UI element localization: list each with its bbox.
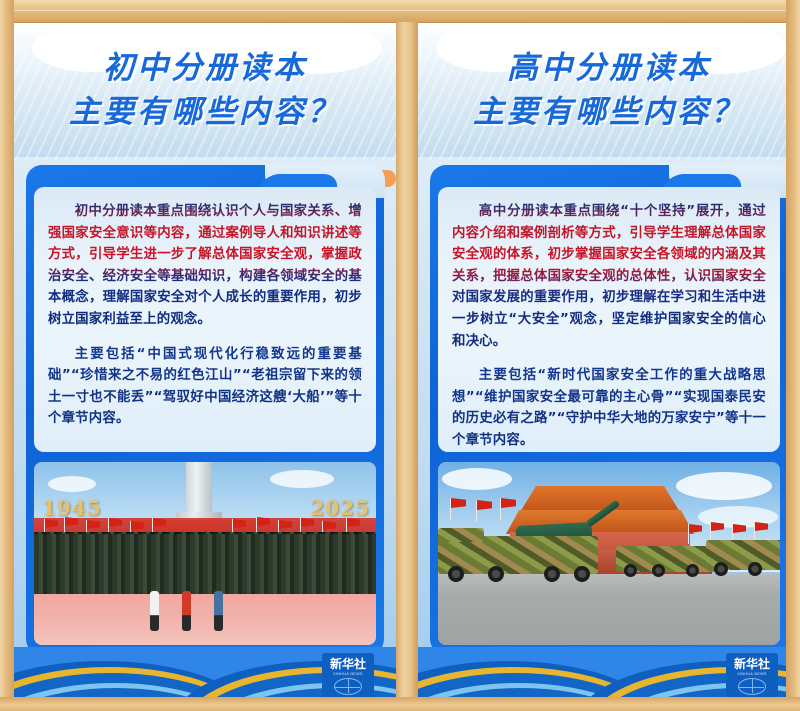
vehicle-wheel: [574, 566, 590, 582]
parade-leader: [150, 591, 159, 631]
title-line-1: 高中分册读本: [418, 46, 800, 90]
frame-left: [0, 0, 14, 711]
xinhua-logo: 新华社 XINHUA NEWS: [726, 653, 778, 699]
panel-title: 高中分册读本 主要有哪些内容？: [418, 46, 800, 134]
vehicle-wheel: [544, 566, 560, 582]
frame-right: [786, 0, 800, 711]
logo-cn-text: 新华社: [734, 658, 770, 671]
frame-divider: [396, 22, 418, 705]
title-line-2: 主要有哪些内容？: [14, 90, 396, 134]
paragraph-1: 初中分册读本重点围绕认识个人与国家关系、增强国家安全意识等内容，通过案例导人和知…: [48, 201, 362, 331]
globe-icon: [738, 678, 766, 695]
globe-icon: [334, 678, 362, 695]
cloud-shape: [442, 468, 512, 490]
cloud-shape: [676, 472, 772, 500]
year-label-right: 2025: [310, 496, 370, 520]
logo-en-text: XINHUA NEWS: [333, 672, 363, 676]
photo-military-parade: 1945 2025: [34, 462, 376, 645]
paragraph-1: 高中分册读本重点围绕“十个坚持”展开，通过内容介绍和案例剖析等方式，引导学生理解…: [452, 201, 766, 352]
parade-leader: [182, 591, 191, 631]
red-carpet: [34, 594, 376, 645]
paragraph-2: 主要包括“中国式现代化行稳致远的重要基础”“珍惜来之不易的红色江山”“老祖宗留下…: [48, 344, 362, 430]
vehicle-wheel: [488, 566, 504, 582]
panel-title: 初中分册读本 主要有哪些内容？: [14, 46, 396, 134]
xinhua-logo: 新华社 XINHUA NEWS: [322, 653, 374, 699]
troop-formation: [34, 534, 376, 600]
parade-ground: [438, 574, 780, 645]
vehicle-wheel: [714, 562, 728, 576]
vehicle-wheel: [748, 562, 762, 576]
year-label-left: 1945: [42, 496, 102, 520]
text-pane: 初中分册读本重点围绕认识个人与国家关系、增强国家安全意识等内容，通过案例导人和知…: [34, 187, 376, 452]
frame-top: [0, 0, 800, 23]
cloud-shape: [270, 470, 334, 488]
panel-junior-high: 初中分册读本 主要有哪些内容？ 初中分册读本重点围绕认识个人与国家关系、增强国家…: [14, 22, 396, 705]
frame-bottom: [0, 697, 800, 711]
parade-leader: [214, 591, 223, 631]
title-line-2: 主要有哪些内容？: [418, 90, 800, 134]
logo-cn-text: 新华社: [330, 658, 366, 671]
missile-vehicle-cab: [438, 528, 484, 542]
title-line-1: 初中分册读本: [14, 46, 396, 90]
logo-en-text: XINHUA NEWS: [737, 672, 767, 676]
vehicle-wheel: [686, 564, 699, 577]
poster-root: 初中分册读本 主要有哪些内容？ 初中分册读本重点围绕认识个人与国家关系、增强国家…: [0, 0, 800, 711]
vehicle-wheel: [448, 566, 464, 582]
panel-senior-high: 高中分册读本 主要有哪些内容？ 高中分册读本重点围绕“十个坚持”展开，通过内容介…: [418, 22, 800, 705]
text-pane: 高中分册读本重点围绕“十个坚持”展开，通过内容介绍和案例剖析等方式，引导学生理解…: [438, 187, 780, 452]
paragraph-2: 主要包括“新时代国家安全工作的重大战略思想”“维护国家安全最可靠的主心骨”“实现…: [452, 365, 766, 451]
cloud-shape: [48, 476, 96, 492]
photo-missile-parade: [438, 462, 780, 645]
vehicle-wheel: [624, 564, 637, 577]
vehicle-wheel: [652, 564, 665, 577]
